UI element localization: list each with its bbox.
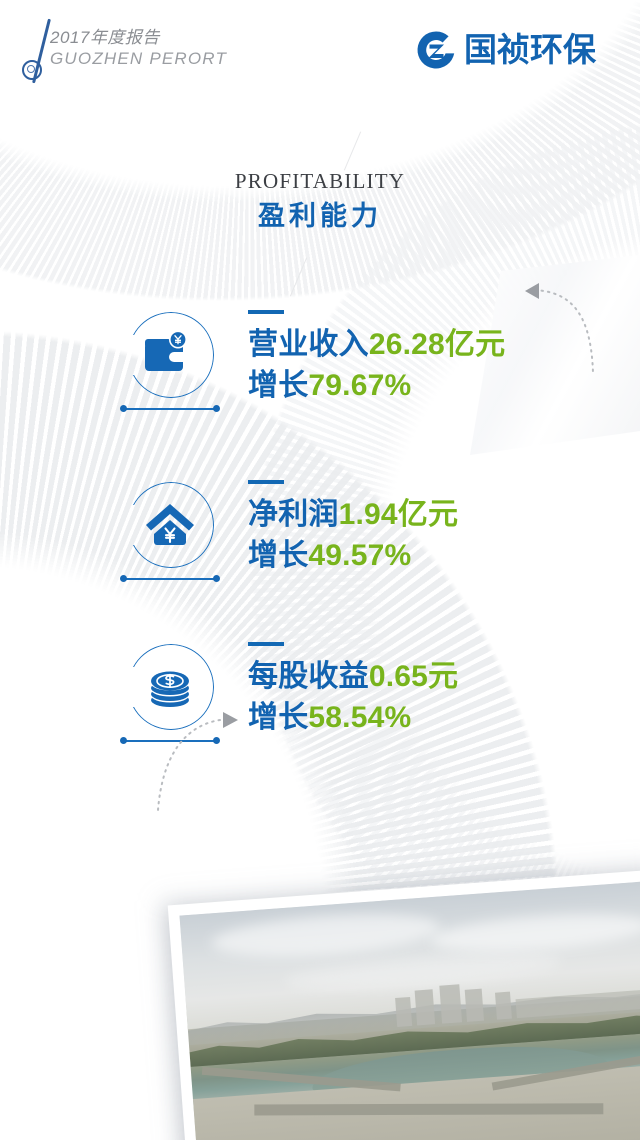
- metric-icon-wrap: [118, 482, 222, 592]
- metric-dash: [248, 310, 284, 314]
- metric-row-eps: 每股收益0.65元 增长58.54%: [0, 644, 640, 764]
- metric-label: 净利润: [248, 498, 339, 531]
- photo-road: [254, 1103, 603, 1115]
- metric-icon-wrap: [118, 312, 222, 422]
- title-tick-top: [344, 131, 361, 170]
- report-year-label: 2017年度报告: [50, 28, 227, 48]
- brand-name-label: 国祯环保: [464, 29, 596, 71]
- dotted-arrow-top-right: [505, 258, 635, 378]
- metric-value: 1.94亿元: [339, 498, 459, 531]
- metric-text: 净利润1.94亿元 增长49.57%: [248, 480, 458, 576]
- title-tick-bottom: [290, 257, 307, 296]
- circle-ring-icon: [22, 60, 42, 80]
- header-titles: 2017年度报告 GUOZHEN PERORT: [50, 28, 227, 69]
- section-title: PROFITABILITY 盈利能力: [0, 168, 640, 235]
- photo-image: [179, 879, 640, 1140]
- section-title-cn: 盈利能力: [0, 197, 640, 235]
- icon-baseline: [118, 404, 222, 413]
- metric-label: 每股收益: [248, 660, 369, 693]
- metric-growth-value: 58.54%: [308, 701, 411, 734]
- page-header: 2017年度报告 GUOZHEN PERORT 国祯环保: [0, 0, 640, 100]
- photo-building: [439, 985, 462, 1024]
- metric-text: 每股收益0.65元 增长58.54%: [248, 642, 458, 738]
- metric-growth-label: 增长: [248, 369, 308, 402]
- metric-value-line: 净利润1.94亿元: [248, 494, 458, 535]
- metric-value-line: 营业收入26.28亿元: [248, 324, 505, 365]
- report-page: 2017年度报告 GUOZHEN PERORT 国祯环保 PROFITABILI…: [0, 0, 640, 1140]
- wallet-icon: [144, 330, 196, 380]
- metric-dash: [248, 480, 284, 484]
- house-yuan-icon: [144, 500, 196, 550]
- metric-value: 0.65元: [369, 660, 458, 693]
- metric-growth-line: 增长79.67%: [248, 365, 505, 406]
- metric-dash: [248, 642, 284, 646]
- photo-building: [495, 992, 512, 1020]
- section-title-en: PROFITABILITY: [0, 168, 640, 194]
- icon-baseline: [118, 574, 222, 583]
- photo-building: [415, 989, 435, 1025]
- dotted-arrow-bottom-left: [120, 700, 270, 820]
- metric-growth-label: 增长: [248, 539, 308, 572]
- metric-value-line: 每股收益0.65元: [248, 656, 458, 697]
- metric-growth-line: 增长49.57%: [248, 535, 458, 576]
- landscape-photo: [168, 867, 640, 1140]
- metric-label: 营业收入: [248, 328, 369, 361]
- report-en-label: GUOZHEN PERORT: [50, 48, 227, 69]
- metric-text: 营业收入26.28亿元 增长79.67%: [248, 310, 505, 406]
- metric-growth-line: 增长58.54%: [248, 697, 458, 738]
- metric-row-net-profit: 净利润1.94亿元 增长49.57%: [0, 482, 640, 602]
- photo-building: [395, 996, 412, 1027]
- metric-growth-value: 49.57%: [308, 539, 411, 572]
- photo-building: [465, 988, 485, 1022]
- guozhen-logo-icon: [415, 29, 457, 71]
- metric-value: 26.28亿元: [369, 328, 505, 361]
- metric-growth-value: 79.67%: [308, 369, 411, 402]
- brand-logo: 国祯环保: [415, 28, 596, 72]
